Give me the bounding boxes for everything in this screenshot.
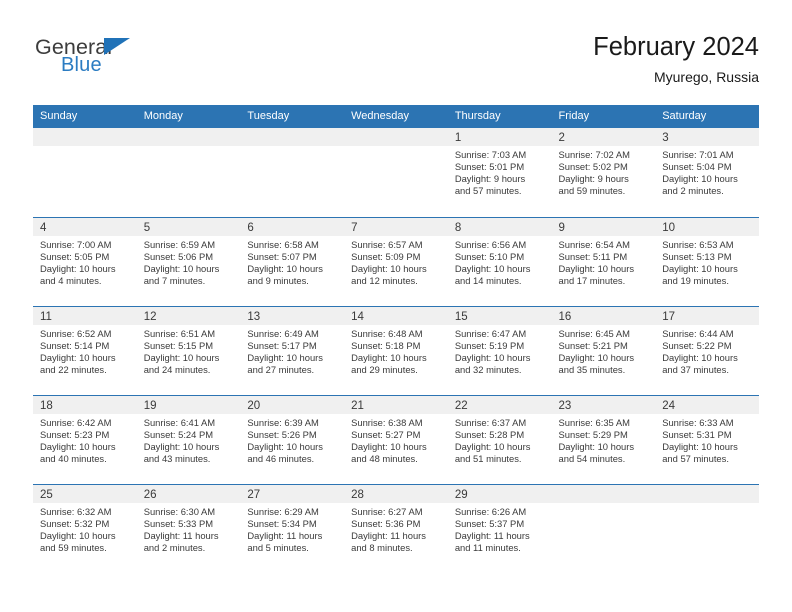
sun-info-line: Sunset: 5:37 PM [455, 518, 547, 530]
day-cell-20[interactable]: 20Sunrise: 6:39 AMSunset: 5:26 PMDayligh… [240, 395, 344, 484]
sunrise-sunset-calendar: SundayMondayTuesdayWednesdayThursdayFrid… [33, 105, 759, 573]
sun-info-line: and 48 minutes. [351, 453, 443, 465]
day-number: 20 [240, 396, 344, 414]
sun-info-line: Sunset: 5:18 PM [351, 340, 443, 352]
column-header-thursday: Thursday [448, 105, 552, 128]
day-number: 28 [344, 485, 448, 503]
sun-info-line: Daylight: 10 hours [559, 352, 651, 364]
day-sun-info: Sunrise: 6:42 AMSunset: 5:23 PMDaylight:… [33, 414, 137, 465]
sun-info-line: Daylight: 10 hours [144, 352, 236, 364]
day-number: 1 [448, 128, 552, 146]
sun-info-line: Daylight: 10 hours [247, 263, 339, 275]
day-sun-info: Sunrise: 6:39 AMSunset: 5:26 PMDaylight:… [240, 414, 344, 465]
sun-info-line: Sunrise: 6:48 AM [351, 328, 443, 340]
sun-info-line: Sunrise: 6:27 AM [351, 506, 443, 518]
sun-info-line: Daylight: 11 hours [455, 530, 547, 542]
day-number: 10 [655, 218, 759, 236]
sun-info-line: Daylight: 10 hours [662, 263, 754, 275]
sun-info-line: Sunset: 5:01 PM [455, 161, 547, 173]
day-number: 5 [137, 218, 241, 236]
sun-info-line: Sunrise: 6:45 AM [559, 328, 651, 340]
sun-info-line: and 59 minutes. [40, 542, 132, 554]
day-sun-info: Sunrise: 6:53 AMSunset: 5:13 PMDaylight:… [655, 236, 759, 287]
sun-info-line: and 9 minutes. [247, 275, 339, 287]
day-cell-21[interactable]: 21Sunrise: 6:38 AMSunset: 5:27 PMDayligh… [344, 395, 448, 484]
day-cell-11[interactable]: 11Sunrise: 6:52 AMSunset: 5:14 PMDayligh… [33, 306, 137, 395]
calendar-week-row: 18Sunrise: 6:42 AMSunset: 5:23 PMDayligh… [33, 395, 759, 484]
sun-info-line: Sunrise: 6:49 AM [247, 328, 339, 340]
sun-info-line: Sunrise: 6:56 AM [455, 239, 547, 251]
day-number: 22 [448, 396, 552, 414]
sun-info-line: Daylight: 10 hours [40, 441, 132, 453]
day-cell-3[interactable]: 3Sunrise: 7:01 AMSunset: 5:04 PMDaylight… [655, 128, 759, 217]
day-cell-18[interactable]: 18Sunrise: 6:42 AMSunset: 5:23 PMDayligh… [33, 395, 137, 484]
calendar-page: General Blue February 2024 Myurego, Russ… [0, 0, 792, 612]
sun-info-line: Sunrise: 6:53 AM [662, 239, 754, 251]
sun-info-line: Daylight: 10 hours [559, 441, 651, 453]
day-number: 2 [552, 128, 656, 146]
column-header-monday: Monday [137, 105, 241, 128]
day-sun-info [655, 503, 759, 506]
sun-info-line: Sunset: 5:14 PM [40, 340, 132, 352]
day-cell-28[interactable]: 28Sunrise: 6:27 AMSunset: 5:36 PMDayligh… [344, 484, 448, 573]
day-sun-info: Sunrise: 6:58 AMSunset: 5:07 PMDaylight:… [240, 236, 344, 287]
day-number: 14 [344, 307, 448, 325]
day-number: 11 [33, 307, 137, 325]
sun-info-line: and 59 minutes. [559, 185, 651, 197]
day-cell-23[interactable]: 23Sunrise: 6:35 AMSunset: 5:29 PMDayligh… [552, 395, 656, 484]
title-block: February 2024 Myurego, Russia [593, 30, 759, 88]
day-cell-empty [33, 128, 137, 217]
day-sun-info: Sunrise: 6:59 AMSunset: 5:06 PMDaylight:… [137, 236, 241, 287]
day-cell-4[interactable]: 4Sunrise: 7:00 AMSunset: 5:05 PMDaylight… [33, 217, 137, 306]
sun-info-line: Sunset: 5:31 PM [662, 429, 754, 441]
day-cell-8[interactable]: 8Sunrise: 6:56 AMSunset: 5:10 PMDaylight… [448, 217, 552, 306]
day-number: 8 [448, 218, 552, 236]
day-sun-info: Sunrise: 6:51 AMSunset: 5:15 PMDaylight:… [137, 325, 241, 376]
sun-info-line: and 46 minutes. [247, 453, 339, 465]
day-number [240, 128, 344, 146]
day-number [33, 128, 137, 146]
day-number: 24 [655, 396, 759, 414]
sun-info-line: Sunrise: 6:59 AM [144, 239, 236, 251]
column-header-wednesday: Wednesday [344, 105, 448, 128]
sun-info-line: Sunset: 5:24 PM [144, 429, 236, 441]
day-cell-29[interactable]: 29Sunrise: 6:26 AMSunset: 5:37 PMDayligh… [448, 484, 552, 573]
sun-info-line: Daylight: 9 hours [559, 173, 651, 185]
day-cell-1[interactable]: 1Sunrise: 7:03 AMSunset: 5:01 PMDaylight… [448, 128, 552, 217]
sun-info-line: Sunrise: 6:41 AM [144, 417, 236, 429]
sun-info-line: and 22 minutes. [40, 364, 132, 376]
day-sun-info: Sunrise: 6:54 AMSunset: 5:11 PMDaylight:… [552, 236, 656, 287]
page-header: General Blue February 2024 Myurego, Russ… [33, 30, 759, 96]
sun-info-line: and 51 minutes. [455, 453, 547, 465]
day-sun-info: Sunrise: 6:27 AMSunset: 5:36 PMDaylight:… [344, 503, 448, 554]
sun-info-line: Sunset: 5:02 PM [559, 161, 651, 173]
day-number: 19 [137, 396, 241, 414]
sun-info-line: and 8 minutes. [351, 542, 443, 554]
day-cell-empty [344, 128, 448, 217]
calendar-header-row: SundayMondayTuesdayWednesdayThursdayFrid… [33, 105, 759, 128]
sun-info-line: and 12 minutes. [351, 275, 443, 287]
sun-info-line: and 57 minutes. [662, 453, 754, 465]
sun-info-line: Sunrise: 6:47 AM [455, 328, 547, 340]
sun-info-line: and 5 minutes. [247, 542, 339, 554]
sun-info-line: Daylight: 11 hours [144, 530, 236, 542]
day-number: 29 [448, 485, 552, 503]
day-sun-info [137, 146, 241, 149]
sun-info-line: Sunrise: 6:29 AM [247, 506, 339, 518]
sun-info-line: Sunset: 5:10 PM [455, 251, 547, 263]
day-cell-14[interactable]: 14Sunrise: 6:48 AMSunset: 5:18 PMDayligh… [344, 306, 448, 395]
day-cell-9[interactable]: 9Sunrise: 6:54 AMSunset: 5:11 PMDaylight… [552, 217, 656, 306]
sun-info-line: and 57 minutes. [455, 185, 547, 197]
day-number: 7 [344, 218, 448, 236]
sun-info-line: Sunset: 5:33 PM [144, 518, 236, 530]
sun-info-line: Sunset: 5:17 PM [247, 340, 339, 352]
sun-info-line: and 54 minutes. [559, 453, 651, 465]
day-sun-info: Sunrise: 7:03 AMSunset: 5:01 PMDaylight:… [448, 146, 552, 197]
day-cell-empty [137, 128, 241, 217]
day-sun-info: Sunrise: 7:01 AMSunset: 5:04 PMDaylight:… [655, 146, 759, 197]
day-sun-info: Sunrise: 7:00 AMSunset: 5:05 PMDaylight:… [33, 236, 137, 287]
day-sun-info: Sunrise: 6:56 AMSunset: 5:10 PMDaylight:… [448, 236, 552, 287]
day-sun-info: Sunrise: 6:52 AMSunset: 5:14 PMDaylight:… [33, 325, 137, 376]
sun-info-line: Sunrise: 7:00 AM [40, 239, 132, 251]
day-sun-info: Sunrise: 6:37 AMSunset: 5:28 PMDaylight:… [448, 414, 552, 465]
sun-info-line: Sunrise: 6:44 AM [662, 328, 754, 340]
sun-info-line: Sunrise: 6:30 AM [144, 506, 236, 518]
sun-info-line: Daylight: 10 hours [144, 263, 236, 275]
sun-info-line: Sunrise: 6:38 AM [351, 417, 443, 429]
sun-info-line: and 17 minutes. [559, 275, 651, 287]
day-number [137, 128, 241, 146]
sun-info-line: and 43 minutes. [144, 453, 236, 465]
sun-info-line: Sunset: 5:04 PM [662, 161, 754, 173]
column-header-sunday: Sunday [33, 105, 137, 128]
sun-info-line: Sunrise: 6:35 AM [559, 417, 651, 429]
day-number: 17 [655, 307, 759, 325]
day-cell-19[interactable]: 19Sunrise: 6:41 AMSunset: 5:24 PMDayligh… [137, 395, 241, 484]
day-number: 25 [33, 485, 137, 503]
sun-info-line: Daylight: 10 hours [351, 263, 443, 275]
calendar-body: 1Sunrise: 7:03 AMSunset: 5:01 PMDaylight… [33, 128, 759, 573]
day-cell-17[interactable]: 17Sunrise: 6:44 AMSunset: 5:22 PMDayligh… [655, 306, 759, 395]
sun-info-line: Sunrise: 6:42 AM [40, 417, 132, 429]
calendar-week-row: 11Sunrise: 6:52 AMSunset: 5:14 PMDayligh… [33, 306, 759, 395]
day-number: 27 [240, 485, 344, 503]
day-sun-info: Sunrise: 6:29 AMSunset: 5:34 PMDaylight:… [240, 503, 344, 554]
sun-info-line: Daylight: 11 hours [351, 530, 443, 542]
day-number: 6 [240, 218, 344, 236]
day-number: 18 [33, 396, 137, 414]
logo-word-blue: Blue [61, 54, 102, 76]
day-sun-info: Sunrise: 6:30 AMSunset: 5:33 PMDaylight:… [137, 503, 241, 554]
day-sun-info: Sunrise: 7:02 AMSunset: 5:02 PMDaylight:… [552, 146, 656, 197]
sun-info-line: Daylight: 9 hours [455, 173, 547, 185]
day-cell-5[interactable]: 5Sunrise: 6:59 AMSunset: 5:06 PMDaylight… [137, 217, 241, 306]
sun-info-line: Sunset: 5:28 PM [455, 429, 547, 441]
sun-info-line: and 4 minutes. [40, 275, 132, 287]
sun-info-line: Sunrise: 6:57 AM [351, 239, 443, 251]
sun-info-line: Sunset: 5:06 PM [144, 251, 236, 263]
sun-info-line: Daylight: 10 hours [40, 263, 132, 275]
sun-info-line: and 35 minutes. [559, 364, 651, 376]
column-header-friday: Friday [552, 105, 656, 128]
day-cell-10[interactable]: 10Sunrise: 6:53 AMSunset: 5:13 PMDayligh… [655, 217, 759, 306]
sun-info-line: Sunrise: 6:39 AM [247, 417, 339, 429]
sun-info-line: and 2 minutes. [144, 542, 236, 554]
sun-info-line: and 37 minutes. [662, 364, 754, 376]
sun-info-line: and 29 minutes. [351, 364, 443, 376]
blue-triangle-logo-mark [104, 38, 130, 55]
day-sun-info [552, 503, 656, 506]
sun-info-line: Daylight: 10 hours [351, 352, 443, 364]
sun-info-line: Sunset: 5:34 PM [247, 518, 339, 530]
day-cell-26[interactable]: 26Sunrise: 6:30 AMSunset: 5:33 PMDayligh… [137, 484, 241, 573]
sun-info-line: and 27 minutes. [247, 364, 339, 376]
sun-info-line: Daylight: 10 hours [247, 441, 339, 453]
day-number: 16 [552, 307, 656, 325]
sun-info-line: Daylight: 10 hours [455, 263, 547, 275]
day-cell-15[interactable]: 15Sunrise: 6:47 AMSunset: 5:19 PMDayligh… [448, 306, 552, 395]
sun-info-line: Daylight: 10 hours [40, 530, 132, 542]
day-sun-info: Sunrise: 6:47 AMSunset: 5:19 PMDaylight:… [448, 325, 552, 376]
sun-info-line: Sunrise: 6:58 AM [247, 239, 339, 251]
day-sun-info: Sunrise: 6:38 AMSunset: 5:27 PMDaylight:… [344, 414, 448, 465]
sun-info-line: Daylight: 10 hours [559, 263, 651, 275]
sun-info-line: Sunset: 5:07 PM [247, 251, 339, 263]
sun-info-line: Daylight: 10 hours [40, 352, 132, 364]
day-sun-info: Sunrise: 6:44 AMSunset: 5:22 PMDaylight:… [655, 325, 759, 376]
sun-info-line: Sunrise: 6:33 AM [662, 417, 754, 429]
calendar-week-row: 1Sunrise: 7:03 AMSunset: 5:01 PMDaylight… [33, 128, 759, 217]
day-number: 21 [344, 396, 448, 414]
day-number: 15 [448, 307, 552, 325]
day-cell-16[interactable]: 16Sunrise: 6:45 AMSunset: 5:21 PMDayligh… [552, 306, 656, 395]
day-sun-info: Sunrise: 6:32 AMSunset: 5:32 PMDaylight:… [33, 503, 137, 554]
sun-info-line: Sunset: 5:32 PM [40, 518, 132, 530]
day-number [552, 485, 656, 503]
day-cell-24[interactable]: 24Sunrise: 6:33 AMSunset: 5:31 PMDayligh… [655, 395, 759, 484]
sun-info-line: and 32 minutes. [455, 364, 547, 376]
day-number: 9 [552, 218, 656, 236]
sun-info-line: Daylight: 10 hours [351, 441, 443, 453]
sun-info-line: Sunrise: 7:02 AM [559, 149, 651, 161]
column-header-saturday: Saturday [655, 105, 759, 128]
sun-info-line: Sunset: 5:19 PM [455, 340, 547, 352]
sun-info-line: Sunset: 5:29 PM [559, 429, 651, 441]
sun-info-line: and 19 minutes. [662, 275, 754, 287]
sun-info-line: Sunset: 5:09 PM [351, 251, 443, 263]
sun-info-line: Sunrise: 6:52 AM [40, 328, 132, 340]
sun-info-line: Daylight: 11 hours [247, 530, 339, 542]
sun-info-line: and 40 minutes. [40, 453, 132, 465]
sun-info-line: Sunset: 5:27 PM [351, 429, 443, 441]
day-sun-info: Sunrise: 6:41 AMSunset: 5:24 PMDaylight:… [137, 414, 241, 465]
sun-info-line: Sunset: 5:21 PM [559, 340, 651, 352]
day-sun-info [240, 146, 344, 149]
day-number: 3 [655, 128, 759, 146]
sun-info-line: Daylight: 10 hours [455, 441, 547, 453]
sun-info-line: and 2 minutes. [662, 185, 754, 197]
day-number: 12 [137, 307, 241, 325]
sun-info-line: Sunset: 5:15 PM [144, 340, 236, 352]
day-cell-2[interactable]: 2Sunrise: 7:02 AMSunset: 5:02 PMDaylight… [552, 128, 656, 217]
day-sun-info: Sunrise: 6:26 AMSunset: 5:37 PMDaylight:… [448, 503, 552, 554]
sun-info-line: Sunset: 5:11 PM [559, 251, 651, 263]
location-subtitle: Myurego, Russia [593, 66, 759, 88]
page-title: February 2024 [593, 30, 759, 64]
day-number [655, 485, 759, 503]
day-cell-7[interactable]: 7Sunrise: 6:57 AMSunset: 5:09 PMDaylight… [344, 217, 448, 306]
day-cell-13[interactable]: 13Sunrise: 6:49 AMSunset: 5:17 PMDayligh… [240, 306, 344, 395]
sun-info-line: Sunrise: 6:32 AM [40, 506, 132, 518]
sun-info-line: and 14 minutes. [455, 275, 547, 287]
day-sun-info [344, 146, 448, 149]
sun-info-line: Sunrise: 6:26 AM [455, 506, 547, 518]
sun-info-line: Daylight: 10 hours [455, 352, 547, 364]
sun-info-line: Daylight: 10 hours [662, 352, 754, 364]
day-cell-empty [240, 128, 344, 217]
day-sun-info: Sunrise: 6:33 AMSunset: 5:31 PMDaylight:… [655, 414, 759, 465]
sun-info-line: Daylight: 10 hours [144, 441, 236, 453]
day-cell-empty [655, 484, 759, 573]
sun-info-line: Daylight: 10 hours [247, 352, 339, 364]
day-sun-info: Sunrise: 6:57 AMSunset: 5:09 PMDaylight:… [344, 236, 448, 287]
day-number [344, 128, 448, 146]
general-blue-logo[interactable]: General Blue [33, 36, 233, 88]
day-cell-6[interactable]: 6Sunrise: 6:58 AMSunset: 5:07 PMDaylight… [240, 217, 344, 306]
day-sun-info: Sunrise: 6:45 AMSunset: 5:21 PMDaylight:… [552, 325, 656, 376]
column-header-tuesday: Tuesday [240, 105, 344, 128]
day-number: 26 [137, 485, 241, 503]
day-sun-info: Sunrise: 6:35 AMSunset: 5:29 PMDaylight:… [552, 414, 656, 465]
sun-info-line: Sunrise: 7:01 AM [662, 149, 754, 161]
day-sun-info: Sunrise: 6:49 AMSunset: 5:17 PMDaylight:… [240, 325, 344, 376]
calendar-week-row: 4Sunrise: 7:00 AMSunset: 5:05 PMDaylight… [33, 217, 759, 306]
day-cell-25[interactable]: 25Sunrise: 6:32 AMSunset: 5:32 PMDayligh… [33, 484, 137, 573]
sun-info-line: Daylight: 10 hours [662, 441, 754, 453]
day-number: 4 [33, 218, 137, 236]
sun-info-line: Sunset: 5:13 PM [662, 251, 754, 263]
sun-info-line: Sunrise: 7:03 AM [455, 149, 547, 161]
day-sun-info: Sunrise: 6:48 AMSunset: 5:18 PMDaylight:… [344, 325, 448, 376]
calendar-week-row: 25Sunrise: 6:32 AMSunset: 5:32 PMDayligh… [33, 484, 759, 573]
day-cell-empty [552, 484, 656, 573]
day-number: 13 [240, 307, 344, 325]
sun-info-line: and 11 minutes. [455, 542, 547, 554]
sun-info-line: Sunset: 5:05 PM [40, 251, 132, 263]
sun-info-line: Sunset: 5:26 PM [247, 429, 339, 441]
day-cell-12[interactable]: 12Sunrise: 6:51 AMSunset: 5:15 PMDayligh… [137, 306, 241, 395]
sun-info-line: Sunrise: 6:37 AM [455, 417, 547, 429]
sun-info-line: and 7 minutes. [144, 275, 236, 287]
sun-info-line: Sunset: 5:23 PM [40, 429, 132, 441]
day-number: 23 [552, 396, 656, 414]
sun-info-line: and 24 minutes. [144, 364, 236, 376]
sun-info-line: Sunset: 5:36 PM [351, 518, 443, 530]
day-cell-27[interactable]: 27Sunrise: 6:29 AMSunset: 5:34 PMDayligh… [240, 484, 344, 573]
sun-info-line: Daylight: 10 hours [662, 173, 754, 185]
day-sun-info [33, 146, 137, 149]
sun-info-line: Sunrise: 6:54 AM [559, 239, 651, 251]
sun-info-line: Sunset: 5:22 PM [662, 340, 754, 352]
day-cell-22[interactable]: 22Sunrise: 6:37 AMSunset: 5:28 PMDayligh… [448, 395, 552, 484]
sun-info-line: Sunrise: 6:51 AM [144, 328, 236, 340]
